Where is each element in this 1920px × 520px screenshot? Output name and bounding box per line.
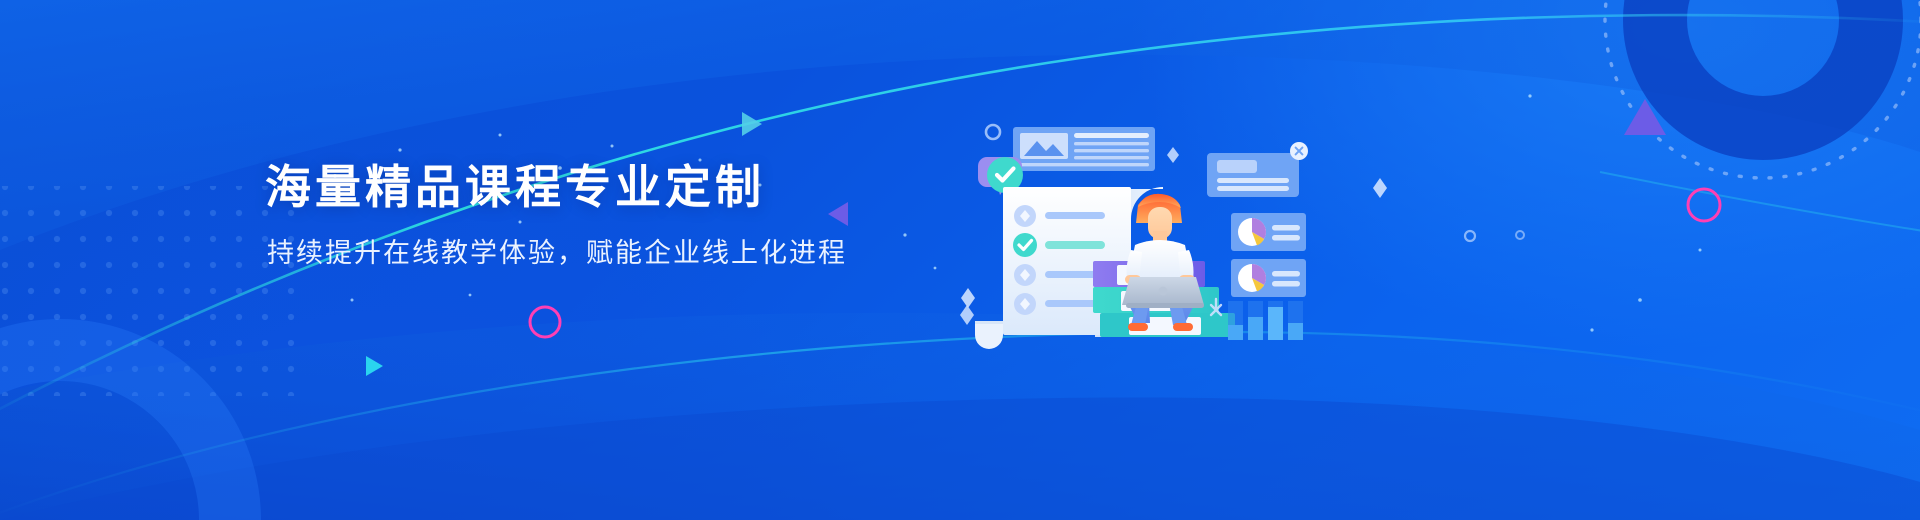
diamond-left [960, 305, 974, 325]
article-card [1013, 127, 1155, 171]
pie-chart-card-upper [1231, 213, 1306, 251]
outline-circle-c [1516, 231, 1524, 239]
close-badge[interactable] [1290, 142, 1308, 160]
text-card [1207, 153, 1299, 197]
online-learning-illustration [945, 95, 1335, 340]
pie-chart-card-lower [1231, 259, 1306, 297]
cyan-curve-thin [1600, 172, 1920, 232]
outline-circle-b [1465, 231, 1475, 241]
diamond-top [1167, 147, 1179, 163]
banner-copy: 海量精品课程专业定制 持续提升在线教学体验，赋能企业线上化进程 [265, 160, 847, 271]
purple-triangle-mid [742, 112, 762, 136]
pink-circle-outline-small [1688, 189, 1720, 221]
page-title: 海量精品课程专业定制 [265, 160, 847, 214]
page-subtitle: 持续提升在线教学体验，赋能企业线上化进程 [267, 236, 847, 271]
bar-chart [1228, 301, 1303, 340]
hero-banner: 海量精品课程专业定制 持续提升在线教学体验，赋能企业线上化进程 [0, 0, 1920, 520]
sparkle-diamond-c [1373, 178, 1387, 198]
